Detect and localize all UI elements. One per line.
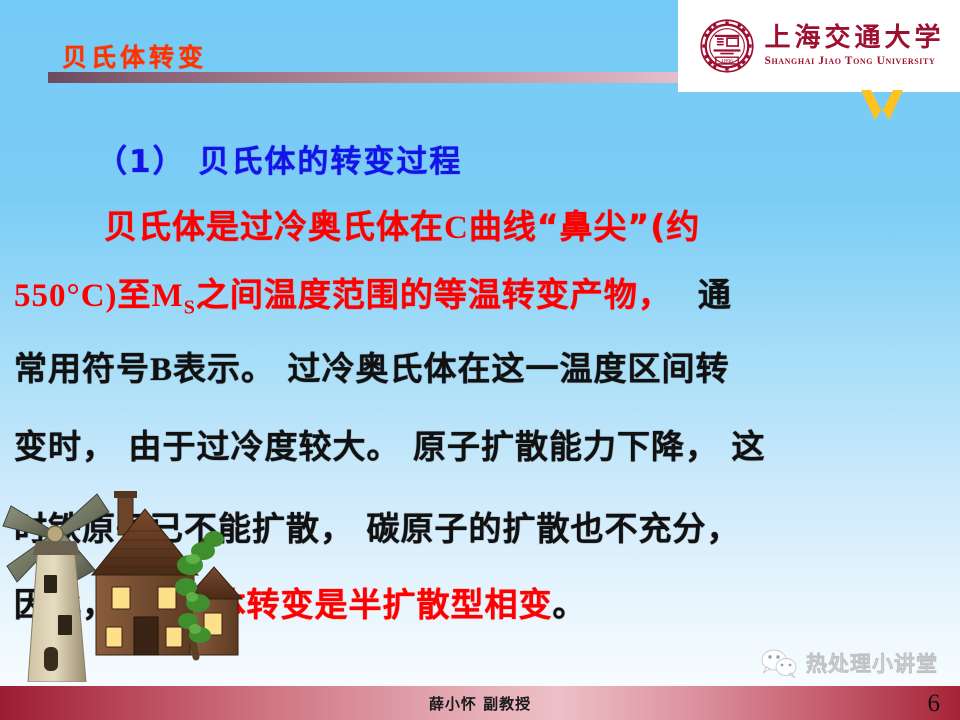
line3-symbol-b: B xyxy=(150,352,173,388)
line2-seg6: 通 xyxy=(698,275,732,314)
svg-text:1896: 1896 xyxy=(721,59,733,65)
line2-subscript: S xyxy=(184,297,196,319)
sjtu-seal-icon: 1896 xyxy=(699,18,755,74)
body-line-3: 常用符号B表示。 过冷奥氏体在这一温度区间转 xyxy=(14,352,730,387)
logo-name-en: Shanghai Jiao Tong University xyxy=(764,55,935,67)
body-line-1: 贝氏体是过冷奥氏体在C曲线“鼻尖”(约 xyxy=(104,210,700,245)
line2-seg5: 之间温度范围的等温转变产物， xyxy=(196,275,672,314)
line1-seg2: C xyxy=(444,210,469,246)
page-title: 贝氏体转变 xyxy=(62,38,207,74)
university-logo: 1896 上海交通大学 Shanghai Jiao Tong Universit… xyxy=(678,0,960,92)
windmill-cottage-illustration xyxy=(0,447,275,682)
page-number: 6 xyxy=(928,690,941,718)
line2-seg3: M xyxy=(152,278,184,314)
line1-seg3: 曲线“鼻尖”(约 xyxy=(469,207,700,246)
line2-seg1: 550°C) xyxy=(14,278,118,314)
line3-seg3: 表示。 过冷奥氏体在这一温度区间转 xyxy=(173,349,730,388)
line6-seg3: 。 xyxy=(553,585,587,624)
line3-seg1: 常用符号 xyxy=(14,349,150,388)
footer-author: 薛小怀 副教授 xyxy=(0,693,960,714)
watermark-text: 热处理小讲堂 xyxy=(806,648,938,678)
line2-seg2: 至 xyxy=(118,275,152,314)
line1-seg1: 贝氏体是过冷奥氏体在 xyxy=(104,207,444,246)
slide: 贝氏体转变 xyxy=(0,0,960,720)
wechat-icon xyxy=(759,648,799,678)
section-heading: （1） 贝氏体的转变过程 xyxy=(96,136,462,181)
yellow-chevron-icon xyxy=(859,90,905,120)
logo-wordmark: 上海交通大学 Shanghai Jiao Tong University xyxy=(764,25,944,67)
watermark: 热处理小讲堂 xyxy=(759,648,938,678)
logo-name-cn: 上海交通大学 xyxy=(764,25,944,52)
body-line-2: 550°C)至MS之间温度范围的等温转变产物，通 xyxy=(14,278,732,318)
